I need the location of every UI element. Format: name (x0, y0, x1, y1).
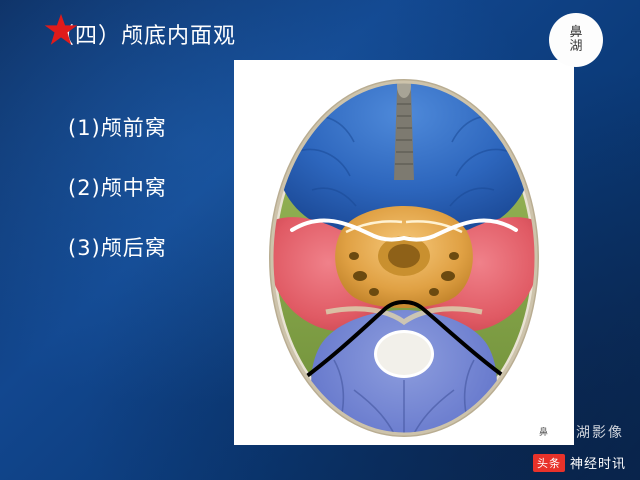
account-name: 神经时讯 (570, 453, 626, 472)
watermark-logo-icon: 鼻 (533, 421, 554, 442)
anatomy-image-panel (234, 60, 574, 445)
corner-logo: 鼻 湖 (549, 13, 603, 67)
toutiao-badge: 头条 (533, 454, 565, 472)
page-title: （四）颅底内面观 (52, 18, 236, 50)
watermark-text: 鼻湖影像 (560, 422, 624, 442)
bullet-list: (1)颅前窝 (2)颅中窝 (3)颅后窝 (68, 112, 167, 292)
corner-logo-line2: 湖 (569, 40, 582, 54)
skull-base-illustration (234, 60, 574, 445)
list-item: (1)颅前窝 (68, 112, 167, 142)
corner-logo-line1: 鼻 (569, 26, 582, 40)
list-item: (2)颅中窝 (68, 172, 167, 202)
watermark: 鼻 鼻湖影像 (533, 421, 624, 442)
slide-root: （四）颅底内面观 (1)颅前窝 (2)颅中窝 (3)颅后窝 鼻 湖 (0, 0, 640, 480)
red-star-icon (44, 13, 78, 46)
source-footer: 头条 神经时讯 (533, 453, 626, 472)
list-item: (3)颅后窝 (68, 232, 167, 262)
